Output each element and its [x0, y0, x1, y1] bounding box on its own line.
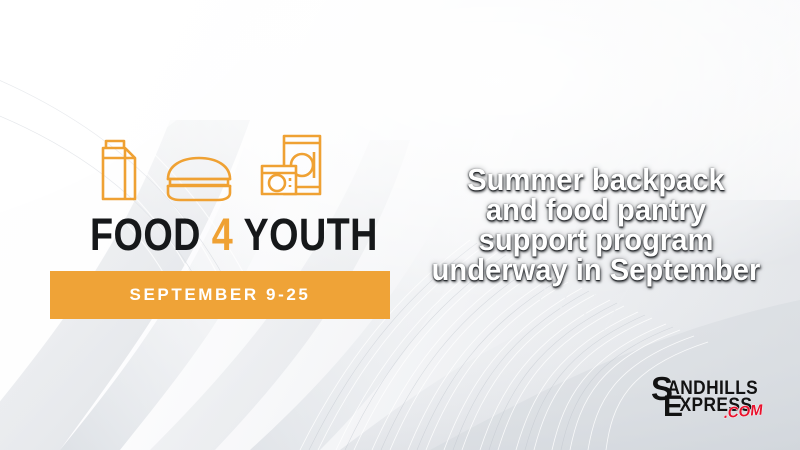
sandhills-express-logo[interactable]: S ANDHILLS E XPRESS .COM	[650, 370, 778, 420]
promo-title-accent-4: 4	[212, 209, 233, 260]
headline-line-3: support program	[412, 225, 780, 255]
promo-title-before: FOOD	[90, 209, 212, 260]
promo-title: FOOD 4 YOUTH	[90, 212, 342, 257]
milk-carton-icon	[98, 136, 140, 202]
date-banner-label: SEPTEMBER 9-25	[130, 285, 311, 305]
hamburger-icon	[164, 156, 234, 202]
logo-tld: .COM	[723, 402, 764, 420]
headline-line-1: Summer backpack	[412, 165, 780, 195]
food-4-youth-promo: FOOD 4 YOUTH SEPTEMBER 9-25	[50, 126, 390, 319]
promo-title-after: YOUTH	[233, 209, 378, 260]
food-icon-row	[98, 126, 390, 202]
headline-line-2: and food pantry	[412, 195, 780, 225]
date-banner: SEPTEMBER 9-25	[50, 271, 390, 319]
headline: Summer backpack and food pantry support …	[400, 165, 792, 285]
canned-goods-icon	[258, 132, 324, 202]
headline-line-4: underway in September	[412, 255, 780, 285]
promotional-graphic: FOOD 4 YOUTH SEPTEMBER 9-25 Summer backp…	[0, 0, 800, 450]
